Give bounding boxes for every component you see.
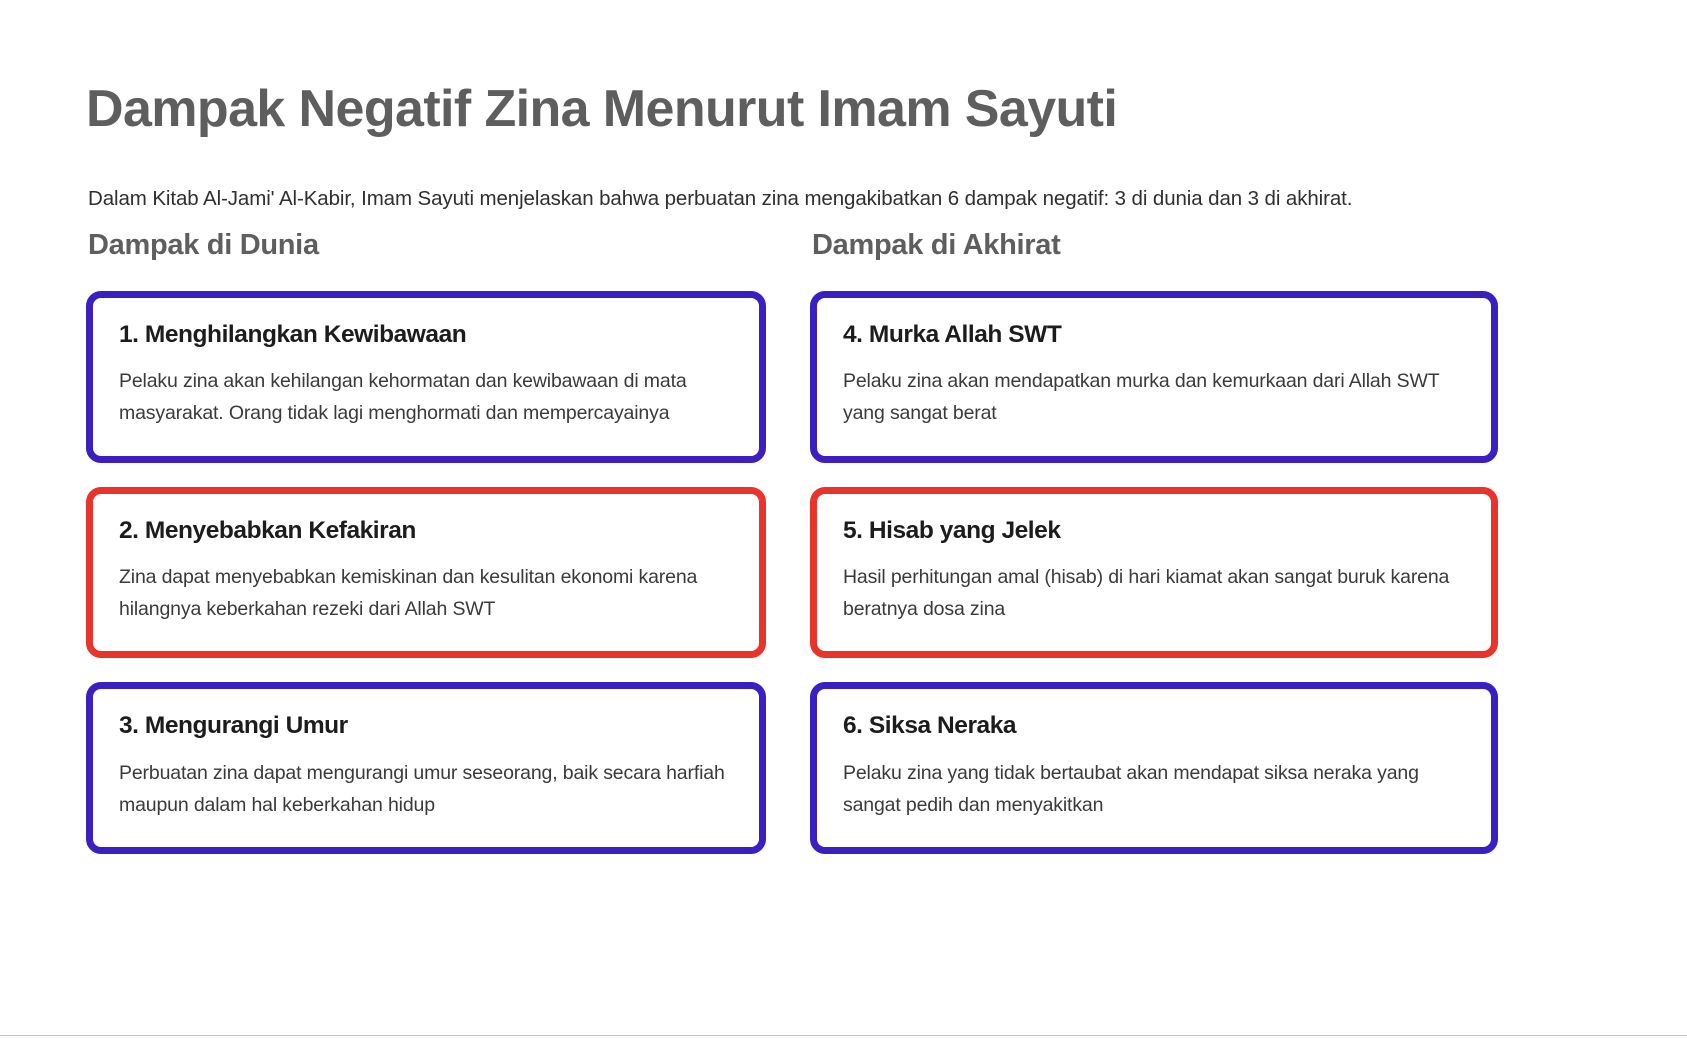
impact-card-body: Zina dapat menyebabkan kemiskinan dan ke… [119, 562, 733, 625]
card-list-akhirat: 4. Murka Allah SWT Pelaku zina akan mend… [810, 291, 1498, 854]
column-title-dunia: Dampak di Dunia [88, 228, 766, 263]
impact-card-5[interactable]: 5. Hisab yang Jelek Hasil perhitungan am… [810, 487, 1498, 659]
impact-card-title: 5. Hisab yang Jelek [843, 516, 1465, 547]
impact-card-body: Hasil perhitungan amal (hisab) di hari k… [843, 562, 1465, 625]
column-title-akhirat: Dampak di Akhirat [812, 228, 1498, 263]
impact-card-title: 2. Menyebabkan Kefakiran [119, 516, 733, 547]
impact-card-2[interactable]: 2. Menyebabkan Kefakiran Zina dapat meny… [86, 487, 766, 659]
impact-card-title: 3. Mengurangi Umur [119, 711, 733, 742]
page-subtitle: Dalam Kitab Al-Jami' Al-Kabir, Imam Sayu… [88, 184, 1352, 215]
impact-card-body: Perbuatan zina dapat mengurangi umur ses… [119, 758, 733, 821]
impact-card-title: 1. Menghilangkan Kewibawaan [119, 320, 733, 351]
impact-card-3[interactable]: 3. Mengurangi Umur Perbuatan zina dapat … [86, 682, 766, 854]
footer-divider [0, 1035, 1687, 1036]
impact-card-body: Pelaku zina yang tidak bertaubat akan me… [843, 758, 1465, 821]
page-title: Dampak Negatif Zina Menurut Imam Sayuti [86, 79, 1117, 140]
impact-card-1[interactable]: 1. Menghilangkan Kewibawaan Pelaku zina … [86, 291, 766, 463]
card-list-dunia: 1. Menghilangkan Kewibawaan Pelaku zina … [86, 291, 766, 854]
impact-card-body: Pelaku zina akan mendapatkan murka dan k… [843, 366, 1465, 429]
infographic-page: Dampak Negatif Zina Menurut Imam Sayuti … [0, 0, 1687, 1038]
column-akhirat: Dampak di Akhirat 4. Murka Allah SWT Pel… [810, 228, 1498, 878]
impact-card-title: 4. Murka Allah SWT [843, 320, 1465, 351]
impact-card-6[interactable]: 6. Siksa Neraka Pelaku zina yang tidak b… [810, 682, 1498, 854]
impact-card-body: Pelaku zina akan kehilangan kehormatan d… [119, 366, 733, 429]
impact-card-title: 6. Siksa Neraka [843, 711, 1465, 742]
column-dunia: Dampak di Dunia 1. Menghilangkan Kewibaw… [86, 228, 766, 878]
impact-card-4[interactable]: 4. Murka Allah SWT Pelaku zina akan mend… [810, 291, 1498, 463]
